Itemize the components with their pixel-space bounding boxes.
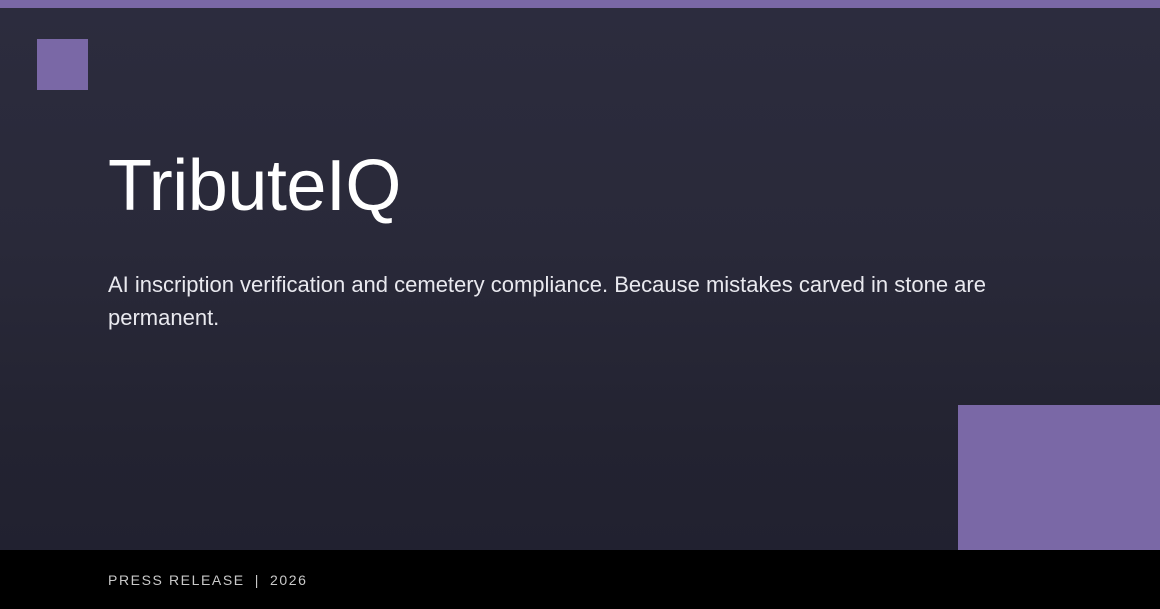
press-release-slide: TributeIQ AI inscription verification an… <box>0 0 1160 609</box>
footer-meta: PRESS RELEASE | 2026 <box>108 572 308 588</box>
slide-content: TributeIQ AI inscription verification an… <box>108 150 1008 334</box>
top-accent-bar <box>0 0 1160 8</box>
footer-year: 2026 <box>270 572 308 588</box>
footer-document-type: PRESS RELEASE <box>108 572 245 588</box>
bottom-right-block-accent <box>958 405 1160 550</box>
slide-canvas: TributeIQ AI inscription verification an… <box>0 0 1160 550</box>
footer-bar: PRESS RELEASE | 2026 <box>0 550 1160 609</box>
footer-separator: | <box>245 572 270 588</box>
slide-subtitle: AI inscription verification and cemetery… <box>108 268 988 334</box>
page-title: TributeIQ <box>108 150 1008 222</box>
corner-square-accent <box>37 39 88 90</box>
